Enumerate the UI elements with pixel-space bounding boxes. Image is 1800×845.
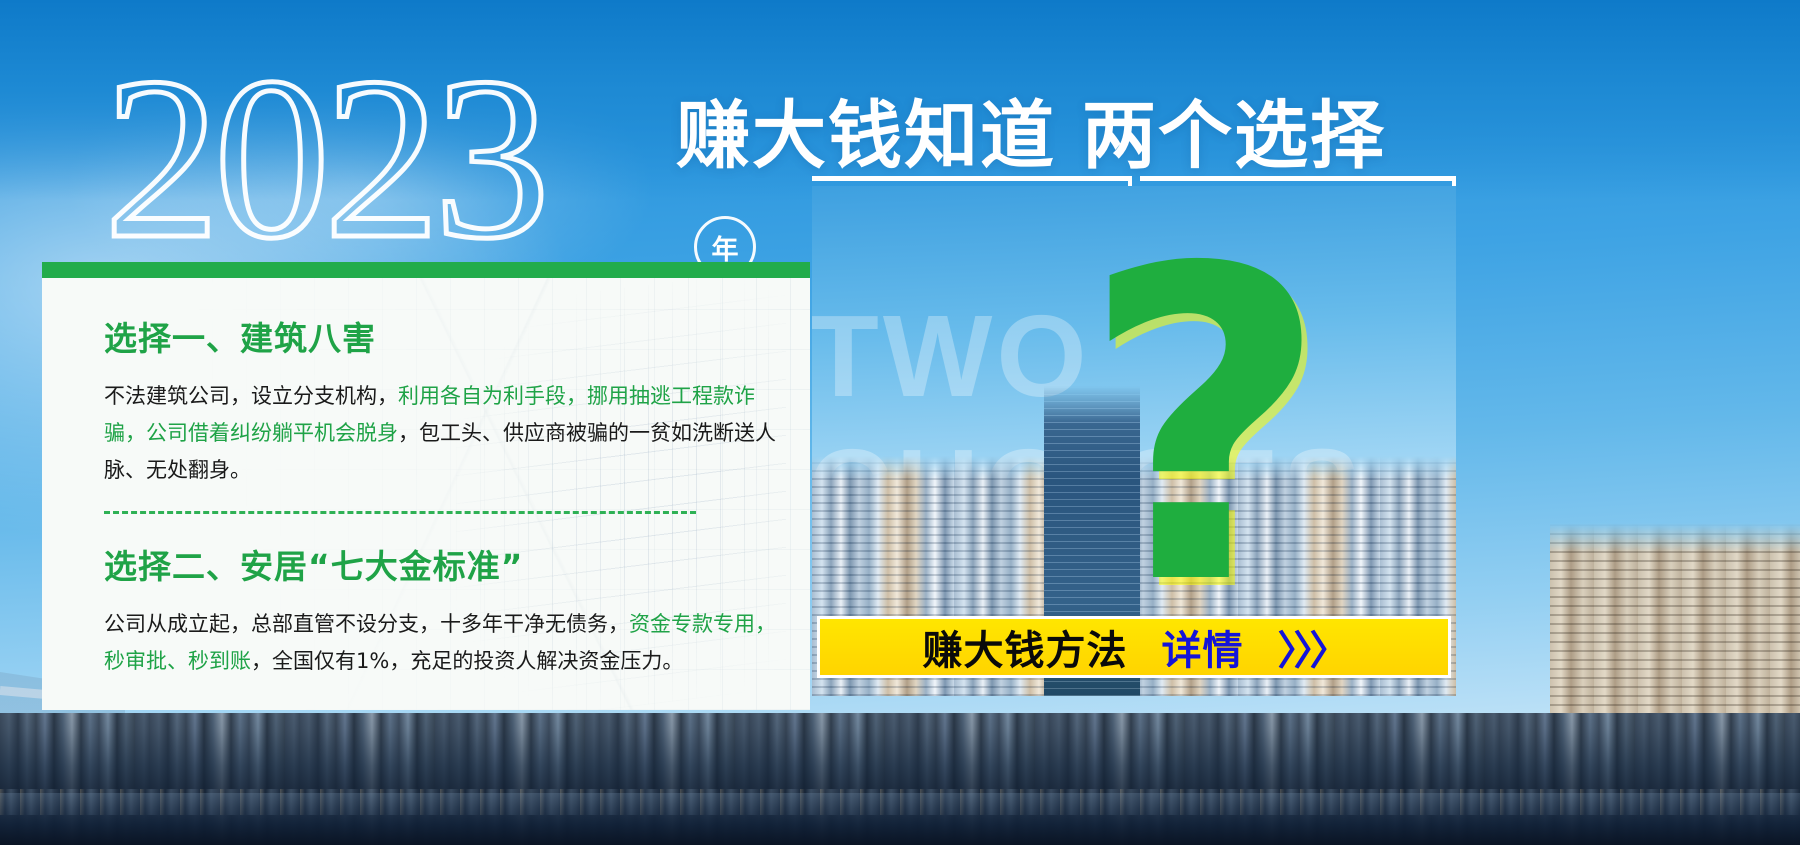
card-top-accent-bar [42, 262, 810, 278]
cta-button[interactable]: 赚大钱方法 详情 〉〉〉 [817, 616, 1451, 678]
promo-banner: 2023 年 赚大钱知道两个选择 TWO CHOICES ? 赚大钱方法 详情 … [0, 0, 1800, 845]
section-two-body: 公司从成立起，总部直管不设分支，十多年干净无债务，资金专款专用，秒审批、秒到账，… [104, 606, 778, 680]
question-mark-icon: ? [1080, 214, 1329, 644]
chevron-right-icon: 〉〉〉 [1278, 618, 1346, 676]
right-cityscape [1550, 523, 1800, 733]
content-card: 选择一、建筑八害 不法建筑公司，设立分支机构，利用各自为利手段，挪用抽逃工程款诈… [42, 278, 810, 710]
section-two-title: 选择二、安居“七大金标准” [104, 540, 780, 588]
section-two-body-part1: 公司从成立起，总部直管不设分支，十多年干净无债务， [104, 612, 629, 636]
ground-reflection [0, 793, 1800, 845]
section-two-body-part2: ，全国仅有1%，充足的投资人解决资金压力。 [251, 649, 683, 673]
headline-left-text: 赚大钱知道 [676, 93, 1056, 179]
section-divider [104, 511, 696, 514]
headline-rule-left [812, 176, 1128, 181]
cta-link-label: 详情 [1162, 618, 1244, 676]
photo-panel: TWO CHOICES ? 赚大钱方法 详情 〉〉〉 [812, 186, 1456, 696]
headline-right-text: 两个选择 [1082, 93, 1386, 179]
section-one-title: 选择一、建筑八害 [104, 312, 780, 360]
section-one-body: 不法建筑公司，设立分支机构，利用各自为利手段，挪用抽逃工程款诈骗，公司借着纠纷躺… [104, 378, 778, 489]
headline-rule-right [1140, 176, 1456, 181]
section-one-body-part1: 不法建筑公司，设立分支机构， [104, 384, 398, 408]
ground-cityscape-strip [0, 713, 1800, 845]
cta-main-label: 赚大钱方法 [923, 618, 1128, 676]
headline: 赚大钱知道两个选择 [676, 76, 1386, 183]
